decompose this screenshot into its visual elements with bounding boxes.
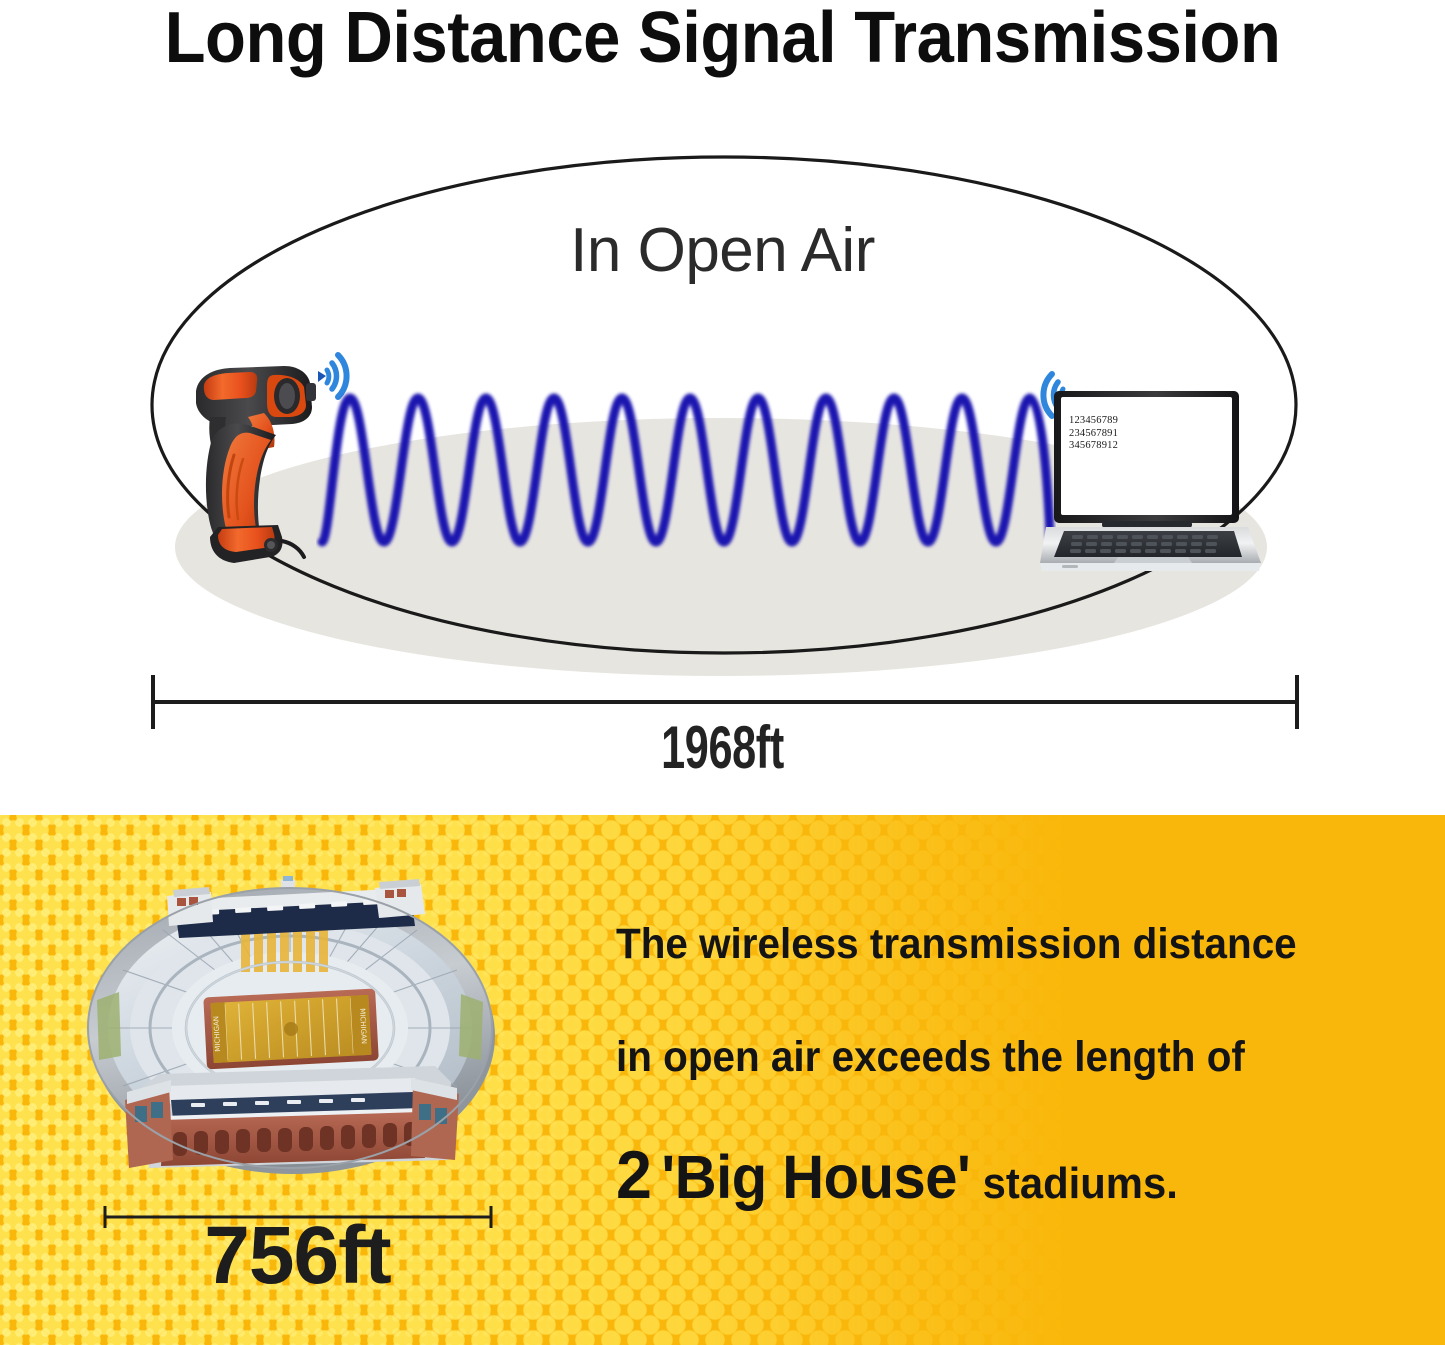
stadiums-word: stadiums. bbox=[983, 1162, 1178, 1206]
comparison-section: MICHIGAN MICHIGAN bbox=[0, 815, 1445, 1345]
distance-label-open-air: 1968ft bbox=[202, 718, 1242, 778]
open-air-section: Long Distance Signal Transmission In Ope… bbox=[0, 0, 1445, 815]
open-air-label: In Open Air bbox=[0, 220, 1445, 282]
copy-line-1: The wireless transmission distance bbox=[616, 923, 1359, 966]
sine-wave-icon bbox=[316, 370, 1056, 570]
barcode-scanner-icon bbox=[188, 355, 323, 580]
copy-line-2: in open air exceeds the length of bbox=[616, 1036, 1359, 1079]
copy-line-3: 2 'Big House' stadiums. bbox=[616, 1141, 1367, 1209]
barcode-line: 345678912 bbox=[1069, 440, 1189, 453]
open-air-illustration: In Open Air bbox=[0, 140, 1445, 685]
comparison-copy: The wireless transmission distance in op… bbox=[616, 923, 1406, 1209]
barcode-line: 123456789 bbox=[1069, 415, 1189, 428]
distance-label-stadium: 756ft bbox=[85, 1215, 510, 1297]
stadium-nickname: 'Big House' bbox=[661, 1147, 970, 1208]
michigan-stadium-image: MICHIGAN MICHIGAN bbox=[63, 860, 518, 1190]
page-title: Long Distance Signal Transmission bbox=[51, 2, 1395, 74]
stadium-count: 2 bbox=[616, 1141, 652, 1209]
barcode-line: 234567891 bbox=[1069, 428, 1189, 441]
laptop-screen-barcodes: 123456789 234567891 345678912 bbox=[1069, 415, 1189, 453]
